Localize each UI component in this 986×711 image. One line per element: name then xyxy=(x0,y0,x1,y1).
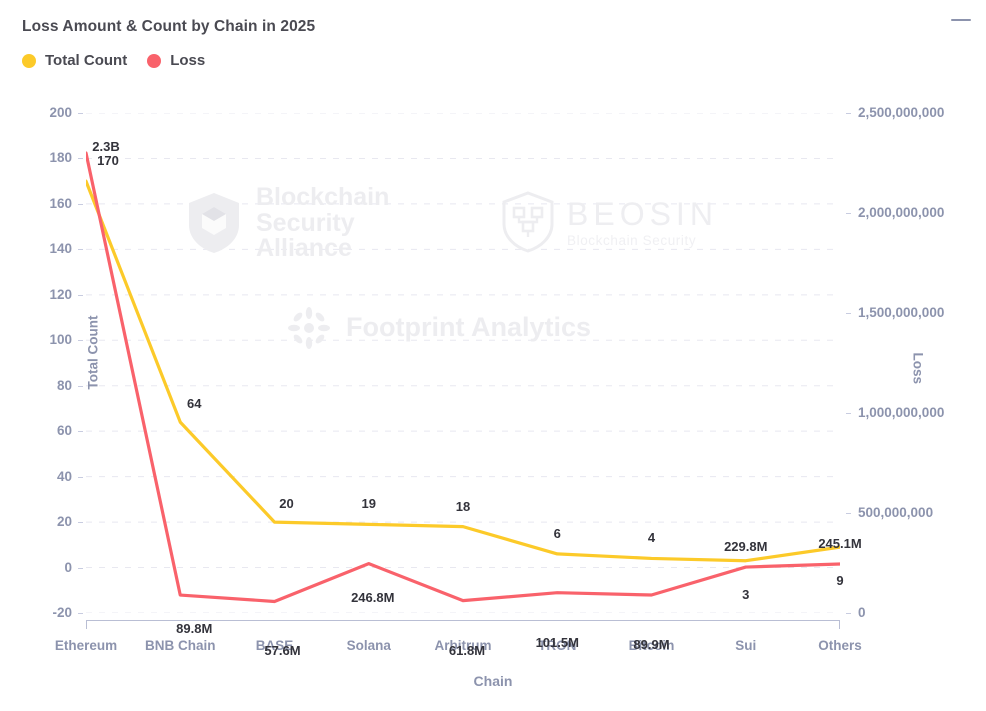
x-axis-title: Chain xyxy=(0,673,986,689)
y-axis-left-title: Total Count xyxy=(85,316,100,390)
series-line-loss xyxy=(86,153,840,601)
chart-legend: Total Count Loss xyxy=(22,52,205,69)
legend-dot-total-count xyxy=(22,54,36,68)
y-axis-right-tick-mark xyxy=(846,313,851,314)
point-label-loss: 57.6M xyxy=(264,643,300,658)
y-axis-left-tick-mark xyxy=(78,568,83,569)
y-axis-left-tick-label: -20 xyxy=(10,606,72,620)
y-axis-left-tick-mark xyxy=(78,158,83,159)
point-label-loss: 245.1M xyxy=(818,536,861,551)
legend-item-loss[interactable]: Loss xyxy=(147,52,205,69)
y-axis-right-title: Loss xyxy=(911,353,926,385)
series-layer xyxy=(86,113,840,613)
point-label-total-count: 20 xyxy=(279,496,293,511)
y-axis-right-tick-label: 2,000,000,000 xyxy=(858,206,944,220)
y-axis-right-tick-mark xyxy=(846,213,851,214)
y-axis-left-tick-label: 200 xyxy=(10,106,72,120)
y-axis-right-tick-label: 2,500,000,000 xyxy=(858,106,944,120)
y-axis-right-tick-label: 1,500,000,000 xyxy=(858,306,944,320)
chart-page: Loss Amount & Count by Chain in 2025 Tot… xyxy=(0,0,986,711)
y-axis-right-tick-label: 500,000,000 xyxy=(858,506,933,520)
y-axis-left-tick-mark xyxy=(78,204,83,205)
point-label-loss: 2.3B xyxy=(92,139,119,154)
point-label-loss: 61.8M xyxy=(449,643,485,658)
y-axis-left-tick-mark xyxy=(78,386,83,387)
x-axis-category-label: Ethereum xyxy=(55,638,117,653)
y-axis-left-tick-label: 20 xyxy=(10,515,72,529)
y-axis-left-tick-label: 160 xyxy=(10,197,72,211)
y-axis-left-tick-mark xyxy=(78,340,83,341)
y-axis-left-tick-label: 140 xyxy=(10,242,72,256)
y-axis-left-tick-label: 0 xyxy=(10,561,72,575)
y-axis-right-tick-mark xyxy=(846,613,851,614)
legend-label-loss: Loss xyxy=(170,52,205,69)
legend-label-total-count: Total Count xyxy=(45,52,127,69)
point-label-total-count: 4 xyxy=(648,530,655,545)
y-axis-left-tick-label: 100 xyxy=(10,333,72,347)
point-label-total-count: 170 xyxy=(97,153,119,168)
point-label-loss: 229.8M xyxy=(724,539,767,554)
minimize-icon[interactable] xyxy=(951,14,971,26)
y-axis-right-tick-label: 0 xyxy=(858,606,866,620)
y-axis-left-tick-mark xyxy=(78,249,83,250)
y-axis-left-tick-mark xyxy=(78,431,83,432)
point-label-total-count: 18 xyxy=(456,499,470,514)
y-axis-left-tick-mark xyxy=(78,113,83,114)
y-axis-left-tick-label: 120 xyxy=(10,288,72,302)
y-axis-left-tick-mark xyxy=(78,522,83,523)
point-label-total-count: 6 xyxy=(554,526,561,541)
x-axis-category-label: BNB Chain xyxy=(145,638,216,653)
point-label-loss: 246.8M xyxy=(351,590,394,605)
y-axis-right-tick-mark xyxy=(846,513,851,514)
point-label-total-count: 3 xyxy=(742,587,749,602)
y-axis-left-tick-mark xyxy=(78,477,83,478)
legend-item-total-count[interactable]: Total Count xyxy=(22,52,127,69)
y-axis-left-tick-label: 80 xyxy=(10,379,72,393)
y-axis-left-tick-label: 180 xyxy=(10,151,72,165)
x-axis-category-label: Solana xyxy=(347,638,391,653)
chart-title: Loss Amount & Count by Chain in 2025 xyxy=(22,18,315,36)
y-axis-left-tick-mark xyxy=(78,295,83,296)
point-label-total-count: 19 xyxy=(362,496,376,511)
x-axis-category-label: Sui xyxy=(735,638,756,653)
legend-dot-loss xyxy=(147,54,161,68)
y-axis-left-tick-mark xyxy=(78,613,83,614)
y-axis-right-tick-mark xyxy=(846,413,851,414)
y-axis-left-tick-label: 60 xyxy=(10,424,72,438)
y-axis-left-tick-label: 40 xyxy=(10,470,72,484)
point-label-total-count: 9 xyxy=(836,573,843,588)
point-label-loss: 101.5M xyxy=(536,635,579,650)
plot-area: Blockchain Security Alliance BEOSIN Bloc… xyxy=(86,113,840,613)
y-axis-right-tick-mark xyxy=(846,113,851,114)
point-label-loss: 89.8M xyxy=(176,621,212,636)
x-axis-category-label: Others xyxy=(818,638,862,653)
y-axis-right-tick-label: 1,000,000,000 xyxy=(858,406,944,420)
point-label-total-count: 64 xyxy=(187,396,201,411)
point-label-loss: 89.9M xyxy=(633,637,669,652)
